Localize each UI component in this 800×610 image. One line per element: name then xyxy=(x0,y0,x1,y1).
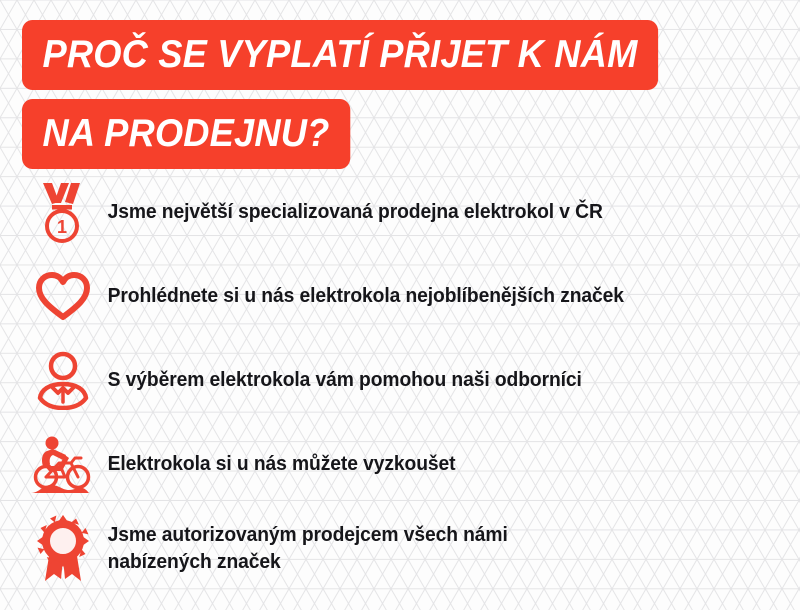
benefit-item-3: S výběrem elektrokola vám pomohou naši o… xyxy=(0,338,800,422)
cyclist-icon xyxy=(24,433,102,495)
benefit-text-4: Elektrokola si u nás můžete vyzkoušet xyxy=(102,450,455,477)
benefit-text-5: Jsme autorizovaným prodejcem všech námi … xyxy=(102,521,508,575)
medal-number-label: 1 xyxy=(57,217,67,237)
promo-infographic: PROČ SE VYPLATÍ PŘIJET K NÁM NA PRODEJNU… xyxy=(0,0,800,610)
benefit-text-3: S výběrem elektrokola vám pomohou naši o… xyxy=(102,366,582,393)
headline-banner-line-1: PROČ SE VYPLATÍ PŘIJET K NÁM xyxy=(22,20,658,90)
benefit-text-5-line2: nabízených značek xyxy=(108,548,508,575)
benefit-text-5-line1: Jsme autorizovaným prodejcem všech námi xyxy=(108,523,508,546)
benefit-text-4-line1: Elektrokola si u nás můžete vyzkoušet xyxy=(108,452,456,475)
heart-icon xyxy=(24,270,102,322)
headline-block: PROČ SE VYPLATÍ PŘIJET K NÁM NA PRODEJNU… xyxy=(22,20,800,169)
benefit-item-1: 1 Jsme největší specializovaná prodejna … xyxy=(0,170,800,254)
benefit-text-2: Prohlédnete si u nás elektrokola nejoblí… xyxy=(102,282,624,309)
benefit-item-5: Jsme autorizovaným prodejcem všech námi … xyxy=(0,506,800,590)
headline-banner-line-2: NA PRODEJNU? xyxy=(22,99,350,169)
consultant-person-icon xyxy=(24,350,102,410)
benefit-item-2: Prohlédnete si u nás elektrokola nejoblí… xyxy=(0,254,800,338)
benefit-text-1-line1: Jsme největší specializovaná prodejna el… xyxy=(108,200,603,223)
benefit-text-2-line1: Prohlédnete si u nás elektrokola nejoblí… xyxy=(108,284,624,307)
benefit-item-4: Elektrokola si u nás můžete vyzkoušet xyxy=(0,422,800,506)
benefit-text-3-line1: S výběrem elektrokola vám pomohou naši o… xyxy=(108,368,582,391)
benefits-list: 1 Jsme největší specializovaná prodejna … xyxy=(0,170,800,590)
benefit-text-1: Jsme největší specializovaná prodejna el… xyxy=(102,198,603,225)
award-rosette-icon xyxy=(24,513,102,583)
medal-first-place-icon: 1 xyxy=(24,181,102,243)
